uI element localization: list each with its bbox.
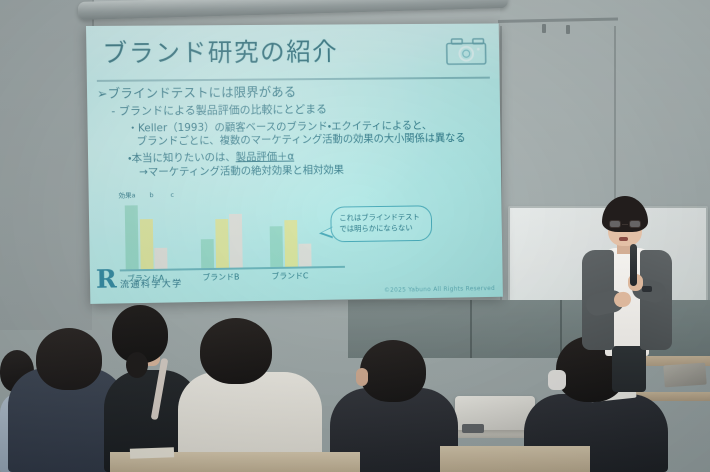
bubble-line-1: これはブラインドテスト <box>339 212 426 224</box>
bullet-level1: ➢ブラインドテストには限界がある <box>97 83 490 103</box>
laptop <box>663 363 706 388</box>
audience-head <box>200 318 272 384</box>
chart-bar-ブランドC-a <box>270 226 283 267</box>
chart-group <box>125 205 168 270</box>
lecture-hall-photo: ブランド研究の紹介 ➢ブラインドテストには限界がある ‐ ブランドによる製品評価… <box>0 0 710 472</box>
glasses-bridge <box>622 224 628 225</box>
microphone-icon <box>630 244 637 286</box>
wristwatch <box>642 286 652 292</box>
chart-bar-ブランドB-a <box>201 239 214 268</box>
bubble-line-2: では明らかにならない <box>339 223 426 235</box>
chart-plot: ブランドAブランドBブランドC <box>119 199 347 272</box>
university-logo-mark: R <box>96 267 118 293</box>
presenter-trousers <box>612 346 646 392</box>
legend-series-b: b <box>149 191 153 199</box>
bullet-keller-line2: ブランドごとに、複数のマーケティング活動の効果の大小関係は異なる <box>137 132 491 149</box>
audience-ear <box>356 368 368 386</box>
presenter-mouth <box>619 237 628 241</box>
slide-title: ブランド研究の紹介 <box>102 32 338 69</box>
legend-series-a: a <box>131 191 135 199</box>
bullet-evaluation-prefix: ・本当に知りたいのは、 <box>128 151 236 164</box>
chart-bar-ブランドA-a <box>125 205 139 269</box>
chart-bar-ブランドB-b <box>215 219 229 267</box>
lens-right <box>629 220 641 228</box>
chart-bar-ブランドA-b <box>139 219 153 270</box>
paper-handout <box>130 447 174 459</box>
chart-legend: 効果abc <box>119 189 175 200</box>
audience-head <box>360 340 426 402</box>
audience-hair-bun <box>126 352 148 378</box>
chalkboard-seam <box>470 300 472 358</box>
legend-ylabel: 効果 <box>119 191 132 199</box>
bullet-arrow-effects: →マーケティング活動の絶対効果と相対効果 <box>139 163 491 181</box>
chart-bar-ブランドA-c <box>154 247 167 268</box>
callout-bubble: これはブラインドテスト では明らかにならない <box>330 205 432 242</box>
audience-head <box>36 328 102 390</box>
chart-bar-ブランドB-c <box>229 213 243 267</box>
bullet-level2: ‐ ブランドによる製品評価の比較にとどまる <box>111 101 490 119</box>
bullet-evaluation-underlined: 製品評価＋α <box>236 150 295 163</box>
wall-left <box>0 0 92 330</box>
chart-group <box>270 220 312 267</box>
face-mask <box>548 370 566 390</box>
slide-body: ➢ブラインドテストには限界がある ‐ ブランドによる製品評価の比較にとどまる ・… <box>97 83 491 181</box>
legend-item-a: 効果a <box>119 189 136 199</box>
projection-screen: ブランド研究の紹介 ➢ブラインドテストには限界がある ‐ ブランドによる製品評価… <box>86 23 503 303</box>
presentation-slide: ブランド研究の紹介 ➢ブラインドテストには限界がある ‐ ブランドによる製品評価… <box>86 23 503 303</box>
projector-lens <box>462 424 484 433</box>
screen-knob <box>542 24 546 33</box>
chart-bar-ブランドC-b <box>284 220 297 266</box>
legend-series-c: c <box>170 191 174 199</box>
eyeglasses-icon <box>609 220 641 228</box>
chart-group <box>200 213 242 268</box>
copyright-notice: ©2025 Yabuno All Rights Reserved <box>384 285 495 294</box>
camera-icon <box>446 35 487 65</box>
screen-knob <box>566 25 570 34</box>
lens-left <box>609 220 621 228</box>
university-name: 流通科学大学 <box>120 276 183 290</box>
chart-category-label: ブランドB <box>202 272 239 284</box>
bar-chart: 効果abc ブランドAブランドBブランドC <box>119 187 348 286</box>
chart-bar-ブランドC-c <box>298 243 311 266</box>
chart-category-label: ブランドC <box>271 270 308 282</box>
audience-table-right <box>440 446 590 472</box>
